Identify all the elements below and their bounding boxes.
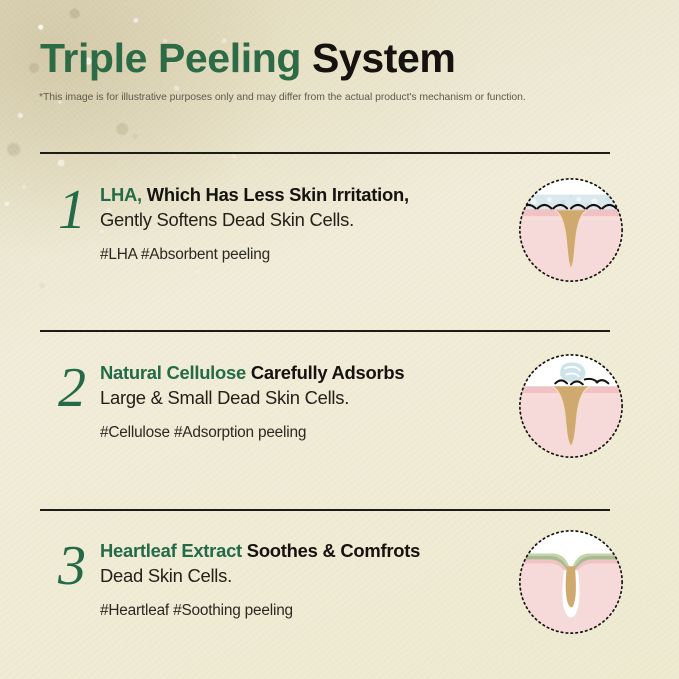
step-headline-1-green: LHA, xyxy=(100,184,142,205)
step-text-1: LHA, Which Has Less Skin Irritation, Gen… xyxy=(100,182,500,264)
step-headline-1: LHA, Which Has Less Skin Irritation, xyxy=(100,182,500,207)
step-subline-2: Large & Small Dead Skin Cells. xyxy=(100,385,500,410)
step-headline-3-green: Heartleaf Extract xyxy=(100,540,242,561)
step-subline-1: Gently Softens Dead Skin Cells. xyxy=(100,207,500,232)
step-subline-3: Dead Skin Cells. xyxy=(100,563,500,588)
step-tags-2: #Cellulose #Adsorption peeling xyxy=(100,424,500,442)
page-title-green: Triple Peeling xyxy=(40,35,301,81)
step-text-3: Heartleaf Extract Soothes & Comfrots Dea… xyxy=(100,538,500,620)
step-headline-2-black: Carefully Adsorbs xyxy=(246,362,404,383)
infographic-canvas: Triple Peeling System *This image is for… xyxy=(0,0,679,679)
page-title: Triple Peeling System xyxy=(40,38,455,79)
step-text-2: Natural Cellulose Carefully Adsorbs Larg… xyxy=(100,360,500,442)
step-headline-3-black: Soothes & Comfrots xyxy=(242,540,420,561)
skin-pore-cellulose-sheet-icon xyxy=(512,347,630,465)
step-headline-3: Heartleaf Extract Soothes & Comfrots xyxy=(100,538,500,563)
step-tags-3: #Heartleaf #Soothing peeling xyxy=(100,602,500,620)
step-number-2: 2 xyxy=(44,360,100,416)
divider-3 xyxy=(40,509,610,511)
divider-1 xyxy=(40,152,610,154)
skin-pore-lha-droplets-icon xyxy=(512,171,630,289)
page-title-black: System xyxy=(301,35,455,81)
disclaimer-text: *This image is for illustrative purposes… xyxy=(39,92,526,103)
step-number-3: 3 xyxy=(44,538,100,594)
skin-pore-heartleaf-soothed-icon xyxy=(512,523,630,641)
step-tags-1: #LHA #Absorbent peeling xyxy=(100,246,500,264)
step-headline-2-green: Natural Cellulose xyxy=(100,362,246,383)
step-headline-2: Natural Cellulose Carefully Adsorbs xyxy=(100,360,500,385)
step-number-1: 1 xyxy=(44,182,100,238)
divider-2 xyxy=(40,330,610,332)
step-headline-1-black: Which Has Less Skin Irritation, xyxy=(142,184,409,205)
